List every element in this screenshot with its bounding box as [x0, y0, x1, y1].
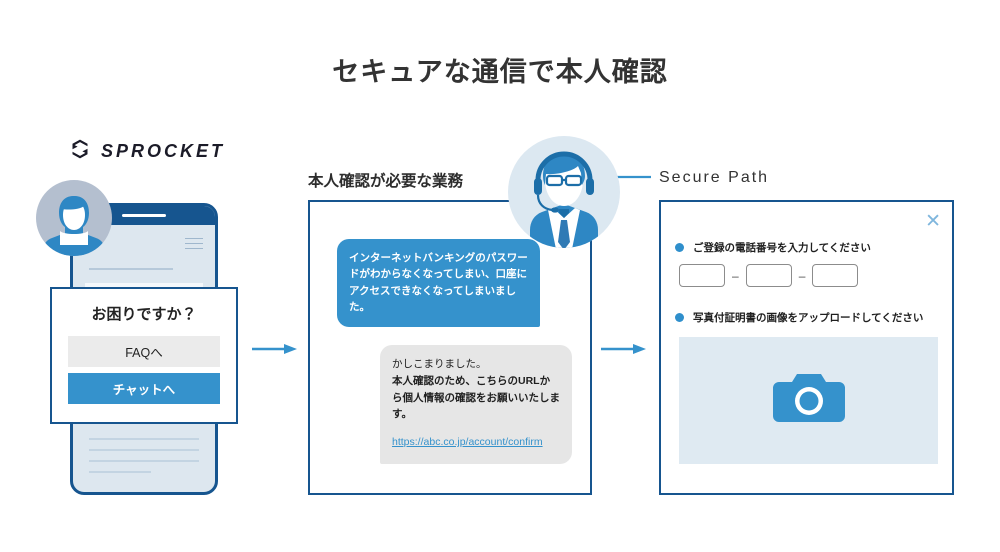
arrow-right-icon: [252, 342, 298, 354]
phone-input-1[interactable]: [679, 264, 725, 287]
chat-prompt-card: お困りですか？ FAQへ チャットへ: [50, 287, 238, 424]
secure-path-form-panel: ✕ ご登録の電話番号を入力してください – – 写真付証明書の画像をアップロード…: [659, 200, 954, 495]
brand-name: SPROCKET: [101, 141, 225, 162]
middle-panel-heading: 本人確認が必要な業務: [308, 169, 463, 191]
phone-separator: –: [732, 269, 739, 283]
phone-input-3[interactable]: [812, 264, 858, 287]
phone-input-2[interactable]: [746, 264, 792, 287]
chat-bubble-agent: かしこまりました。 本人確認のため、こちらのURLから個人情報の確認をお願いいた…: [380, 345, 572, 464]
phone-field-label: ご登録の電話番号を入力してください: [675, 240, 871, 255]
phone-number-inputs: – –: [679, 264, 858, 287]
chat-prompt-title: お困りですか？: [68, 303, 220, 324]
sprocket-hex-arrow-icon: [68, 137, 92, 166]
user-avatar-female-icon: [36, 180, 112, 256]
photo-upload-dropzone[interactable]: [679, 337, 938, 464]
verification-link[interactable]: https://abc.co.jp/account/confirm: [392, 434, 560, 451]
upload-field-label: 写真付証明書の画像をアップロードしてください: [675, 310, 923, 325]
faq-button[interactable]: FAQへ: [68, 336, 220, 367]
agent-message-line2: 本人確認のため、こちらのURLから個人情報の確認をお願いいたします。: [392, 375, 560, 421]
phone-notch: [122, 214, 166, 217]
close-x-icon[interactable]: ✕: [925, 212, 941, 231]
arrow-right-icon: [601, 342, 647, 354]
chat-bubble-user: インターネットバンキングのパスワードがわからなくなってしまい、口座にアクセスでき…: [337, 239, 540, 327]
camera-icon: [773, 368, 845, 433]
hamburger-menu-icon: [185, 238, 203, 253]
agent-message-line1: かしこまりました。: [392, 358, 487, 370]
right-panel-heading: Secure Path: [659, 169, 769, 187]
brand-logo: SPROCKET: [68, 137, 225, 166]
support-agent-headset-icon: [508, 136, 620, 248]
diagram-canvas: セキュアな通信で本人確認 SPROCKET: [0, 0, 1000, 552]
page-title: セキュアな通信で本人確認: [0, 50, 1000, 89]
chat-button[interactable]: チャットへ: [68, 373, 220, 404]
phone-separator: –: [799, 269, 806, 283]
phone-content-line: [89, 268, 173, 270]
phone-content-lines: [89, 438, 199, 482]
